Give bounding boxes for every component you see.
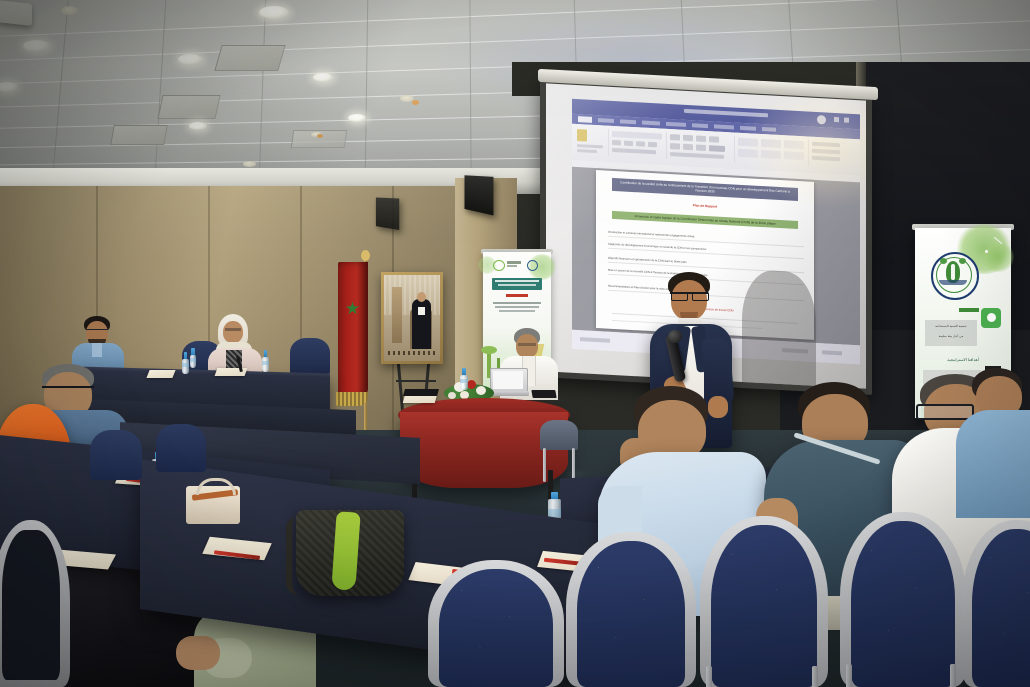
bag-strap	[286, 518, 308, 596]
banquet-chair[interactable]	[566, 532, 696, 687]
banquet-chair[interactable]	[700, 516, 828, 687]
knit-handbag	[288, 496, 406, 602]
banquet-chair[interactable]	[90, 430, 142, 484]
flag-pentagram-icon: ★	[344, 300, 361, 317]
easel-crossbar	[396, 380, 436, 382]
banquet-chair[interactable]	[156, 424, 206, 474]
water-bottle	[262, 350, 269, 372]
royal-portrait-frame	[381, 272, 443, 364]
conference-room-photo: Contribution de la société civile au ren…	[0, 0, 1030, 687]
banquet-chair[interactable]	[428, 560, 564, 687]
banner-arabic-line-1: جمعية التنمية المستدامة	[925, 324, 977, 328]
banner-arabic-heading: أهدافنا الاستراتيجية	[933, 358, 993, 362]
royal-portrait-image	[384, 275, 440, 361]
banquet-chair[interactable]	[840, 512, 966, 687]
water-bottle	[182, 352, 189, 374]
banquet-chair[interactable]	[962, 520, 1030, 687]
attendee-blue-polo-back	[962, 368, 1030, 518]
water-bottle	[190, 348, 196, 368]
phone	[531, 390, 556, 398]
banquet-chair[interactable]	[0, 520, 70, 687]
wall-speaker-left	[465, 175, 494, 215]
panel-chair	[290, 338, 330, 374]
moroccan-flag	[338, 262, 368, 402]
water-bottle	[460, 368, 468, 390]
binder	[403, 389, 439, 396]
flag-finial	[361, 250, 370, 261]
notepad	[146, 370, 175, 378]
flag-fringe	[336, 392, 368, 406]
chair-behind-red-table	[540, 420, 580, 484]
banner-arabic-line-2: من أجل بيئة سليمة	[925, 334, 977, 338]
wall-speaker-right	[376, 198, 399, 231]
eyeglasses	[42, 386, 94, 397]
beige-handbag	[186, 478, 240, 524]
